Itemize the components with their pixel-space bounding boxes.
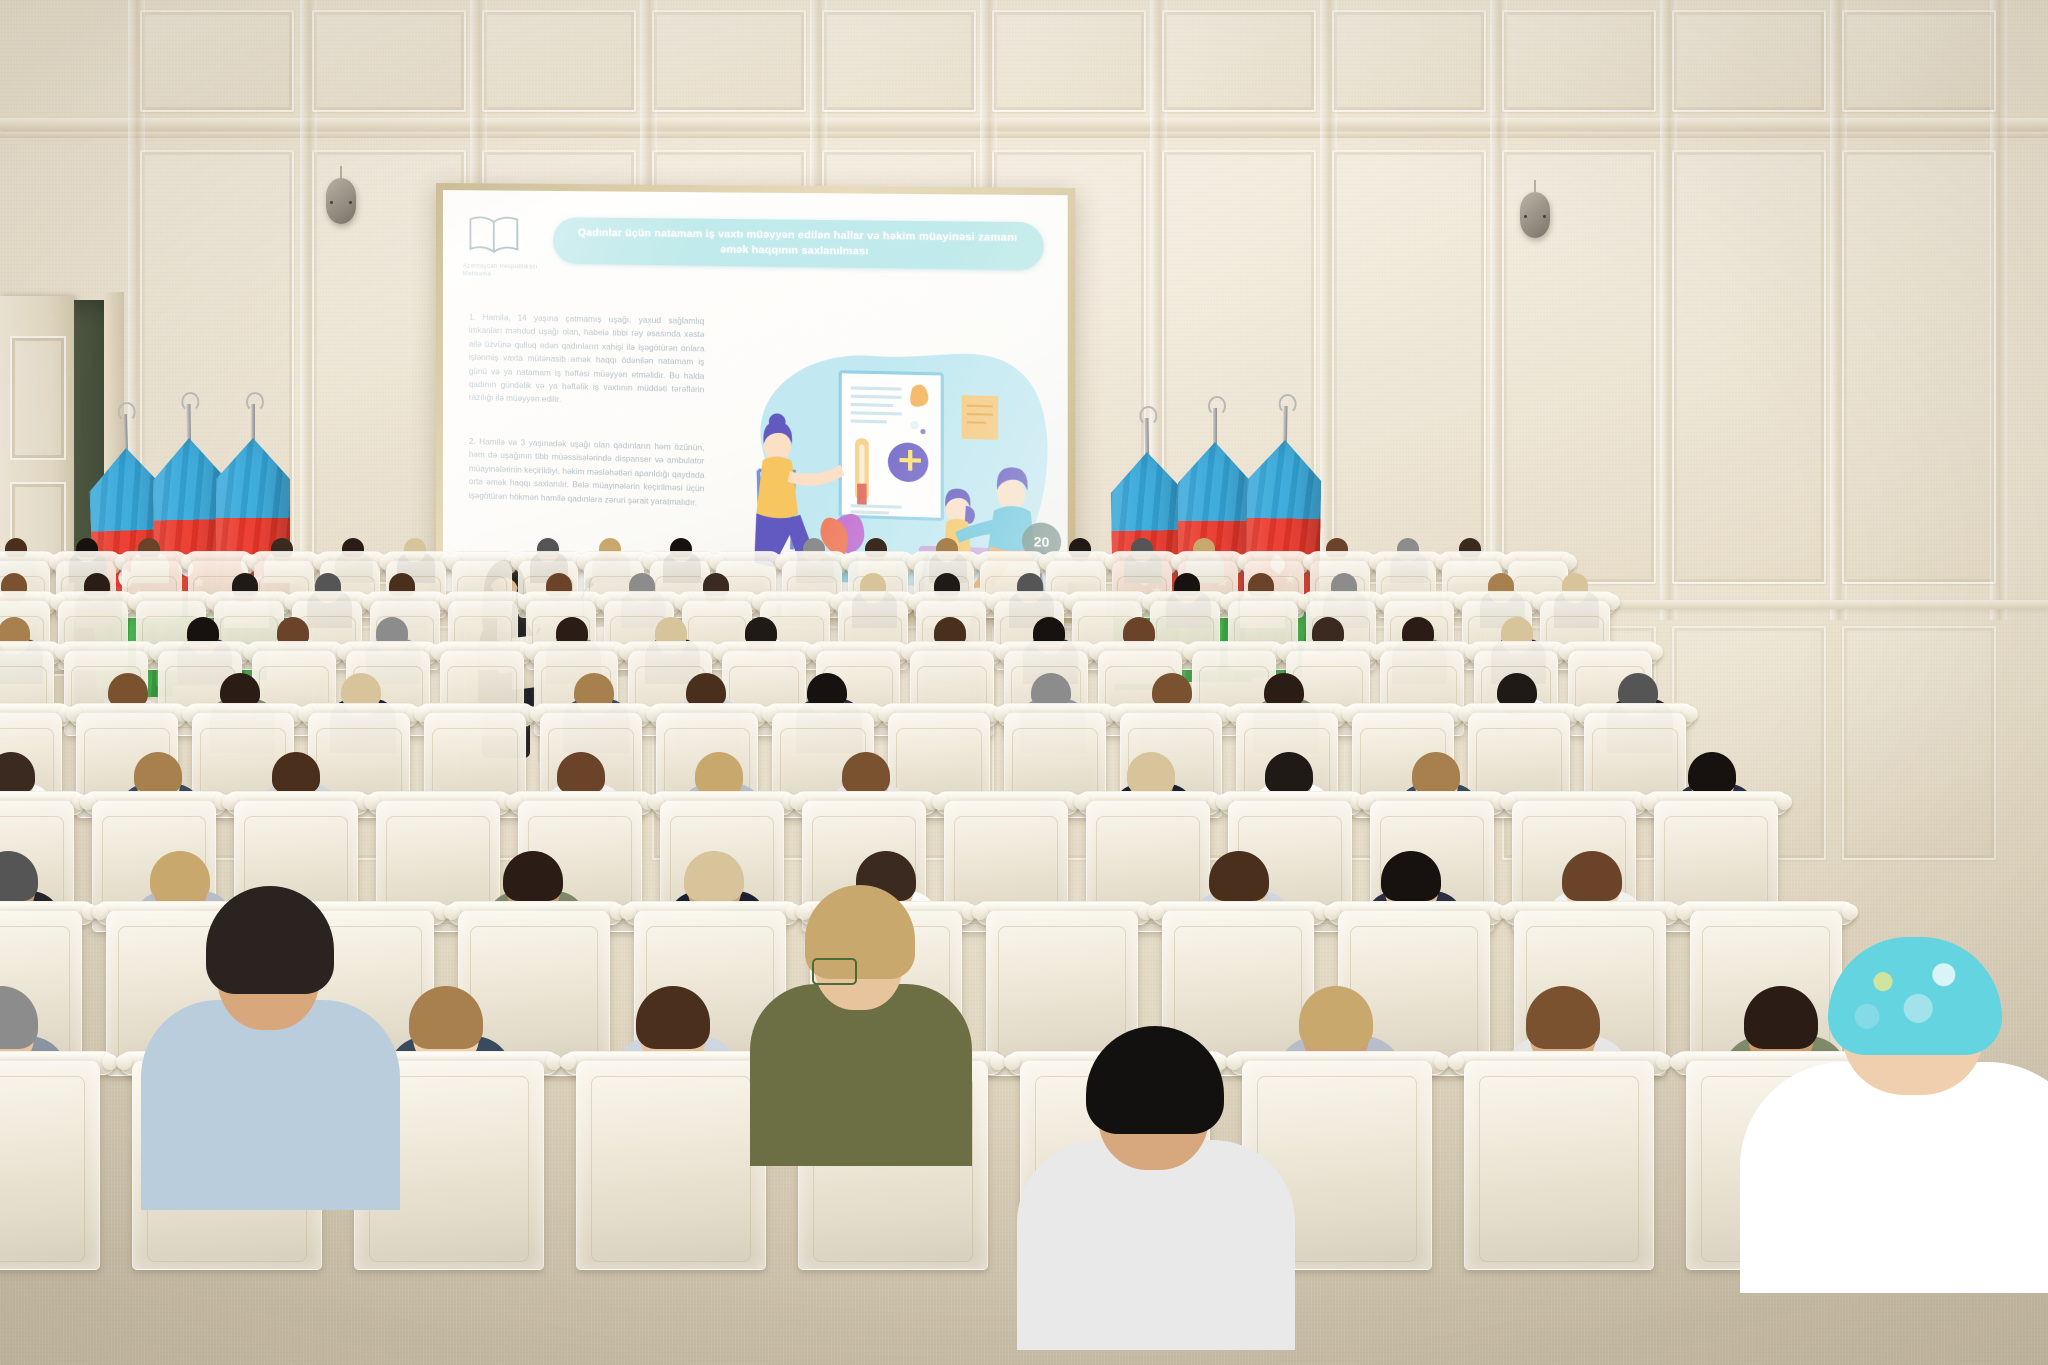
attendee-headscarf (1820, 930, 2010, 1260)
attendee-hair (1086, 1026, 1224, 1134)
audience-person-hair (1265, 752, 1313, 793)
audience-person-hair (636, 986, 710, 1049)
audience-person-hair (807, 673, 846, 706)
audience-person-hair (1562, 851, 1621, 901)
audience-person-hair (842, 752, 890, 793)
audience-person-hair (503, 851, 562, 901)
audience-person-hair (1744, 986, 1818, 1049)
audience-chair (0, 1060, 100, 1270)
audience-person-hair (1526, 986, 1600, 1049)
audience-person-hair (1688, 752, 1736, 793)
attendee-dark-hair-front (1080, 1020, 1230, 1320)
attendee-hair (206, 886, 335, 994)
flag-pole (186, 404, 191, 444)
audience-person-hair (409, 986, 483, 1049)
audience-person-hair (220, 673, 259, 706)
wall-panel-main-9 (1672, 150, 1826, 584)
eyeglasses-icon (812, 958, 857, 985)
chair-seam (591, 1076, 751, 1262)
audience-person-hair (1497, 673, 1536, 706)
chair-seam (0, 1076, 85, 1262)
audience-person-hair (0, 851, 38, 901)
audience-person-hair (686, 673, 725, 706)
flag-pole (1144, 418, 1149, 458)
audience-person-hair (574, 673, 613, 706)
audience-person-hair (0, 986, 38, 1049)
attendee-shoulders (1740, 1062, 2048, 1293)
audience-person-hair (0, 752, 35, 793)
attendee-olive-top (800, 880, 920, 1140)
flag-finial (1208, 396, 1226, 416)
audience-person-hair (1209, 851, 1268, 901)
audience-person-hair (1127, 752, 1175, 793)
audience-person-hair (108, 673, 147, 706)
wall-panel-dado-10 (1842, 626, 1996, 860)
attendee-shoulders (1017, 1140, 1295, 1350)
audience-person-hair (341, 673, 380, 706)
audience-person-hair (1152, 673, 1191, 706)
audience-person-hair (134, 752, 182, 793)
chair-seam (1479, 1076, 1639, 1262)
conference-hall-photo: Azərbaycan Respublikası Məhkəmə Qadınlar… (0, 0, 2048, 1365)
wall-speaker-right-icon (1520, 192, 1550, 238)
attendee-shoulders (750, 984, 972, 1166)
audience-person-hair (684, 851, 743, 901)
wall-panel-upper-8 (1502, 10, 1656, 112)
wall-panel-upper-10 (1842, 10, 1996, 112)
attendee-shoulders (141, 1000, 400, 1210)
audience-chair (576, 1060, 766, 1270)
headscarf-pattern (1835, 947, 1995, 1046)
flag-finial (1278, 394, 1296, 414)
audience-person-hair (1381, 851, 1440, 901)
audience-person-hair (1412, 752, 1460, 793)
flag-pole (1283, 406, 1288, 446)
wall-panel-main-10 (1842, 150, 1996, 584)
audience-person-hair (1031, 673, 1070, 706)
audience-person-hair (695, 752, 743, 793)
audience-person-hair (1618, 673, 1657, 706)
audience-person-hair (1299, 986, 1373, 1049)
flag-finial (246, 392, 264, 412)
wall-panel-upper-9 (1672, 10, 1826, 112)
attendee-blue-shirt (200, 880, 340, 1180)
audience-person-hair (1264, 673, 1303, 706)
audience-person-hair (557, 752, 605, 793)
audience-chair (1464, 1060, 1654, 1270)
audience-person-hair (272, 752, 320, 793)
